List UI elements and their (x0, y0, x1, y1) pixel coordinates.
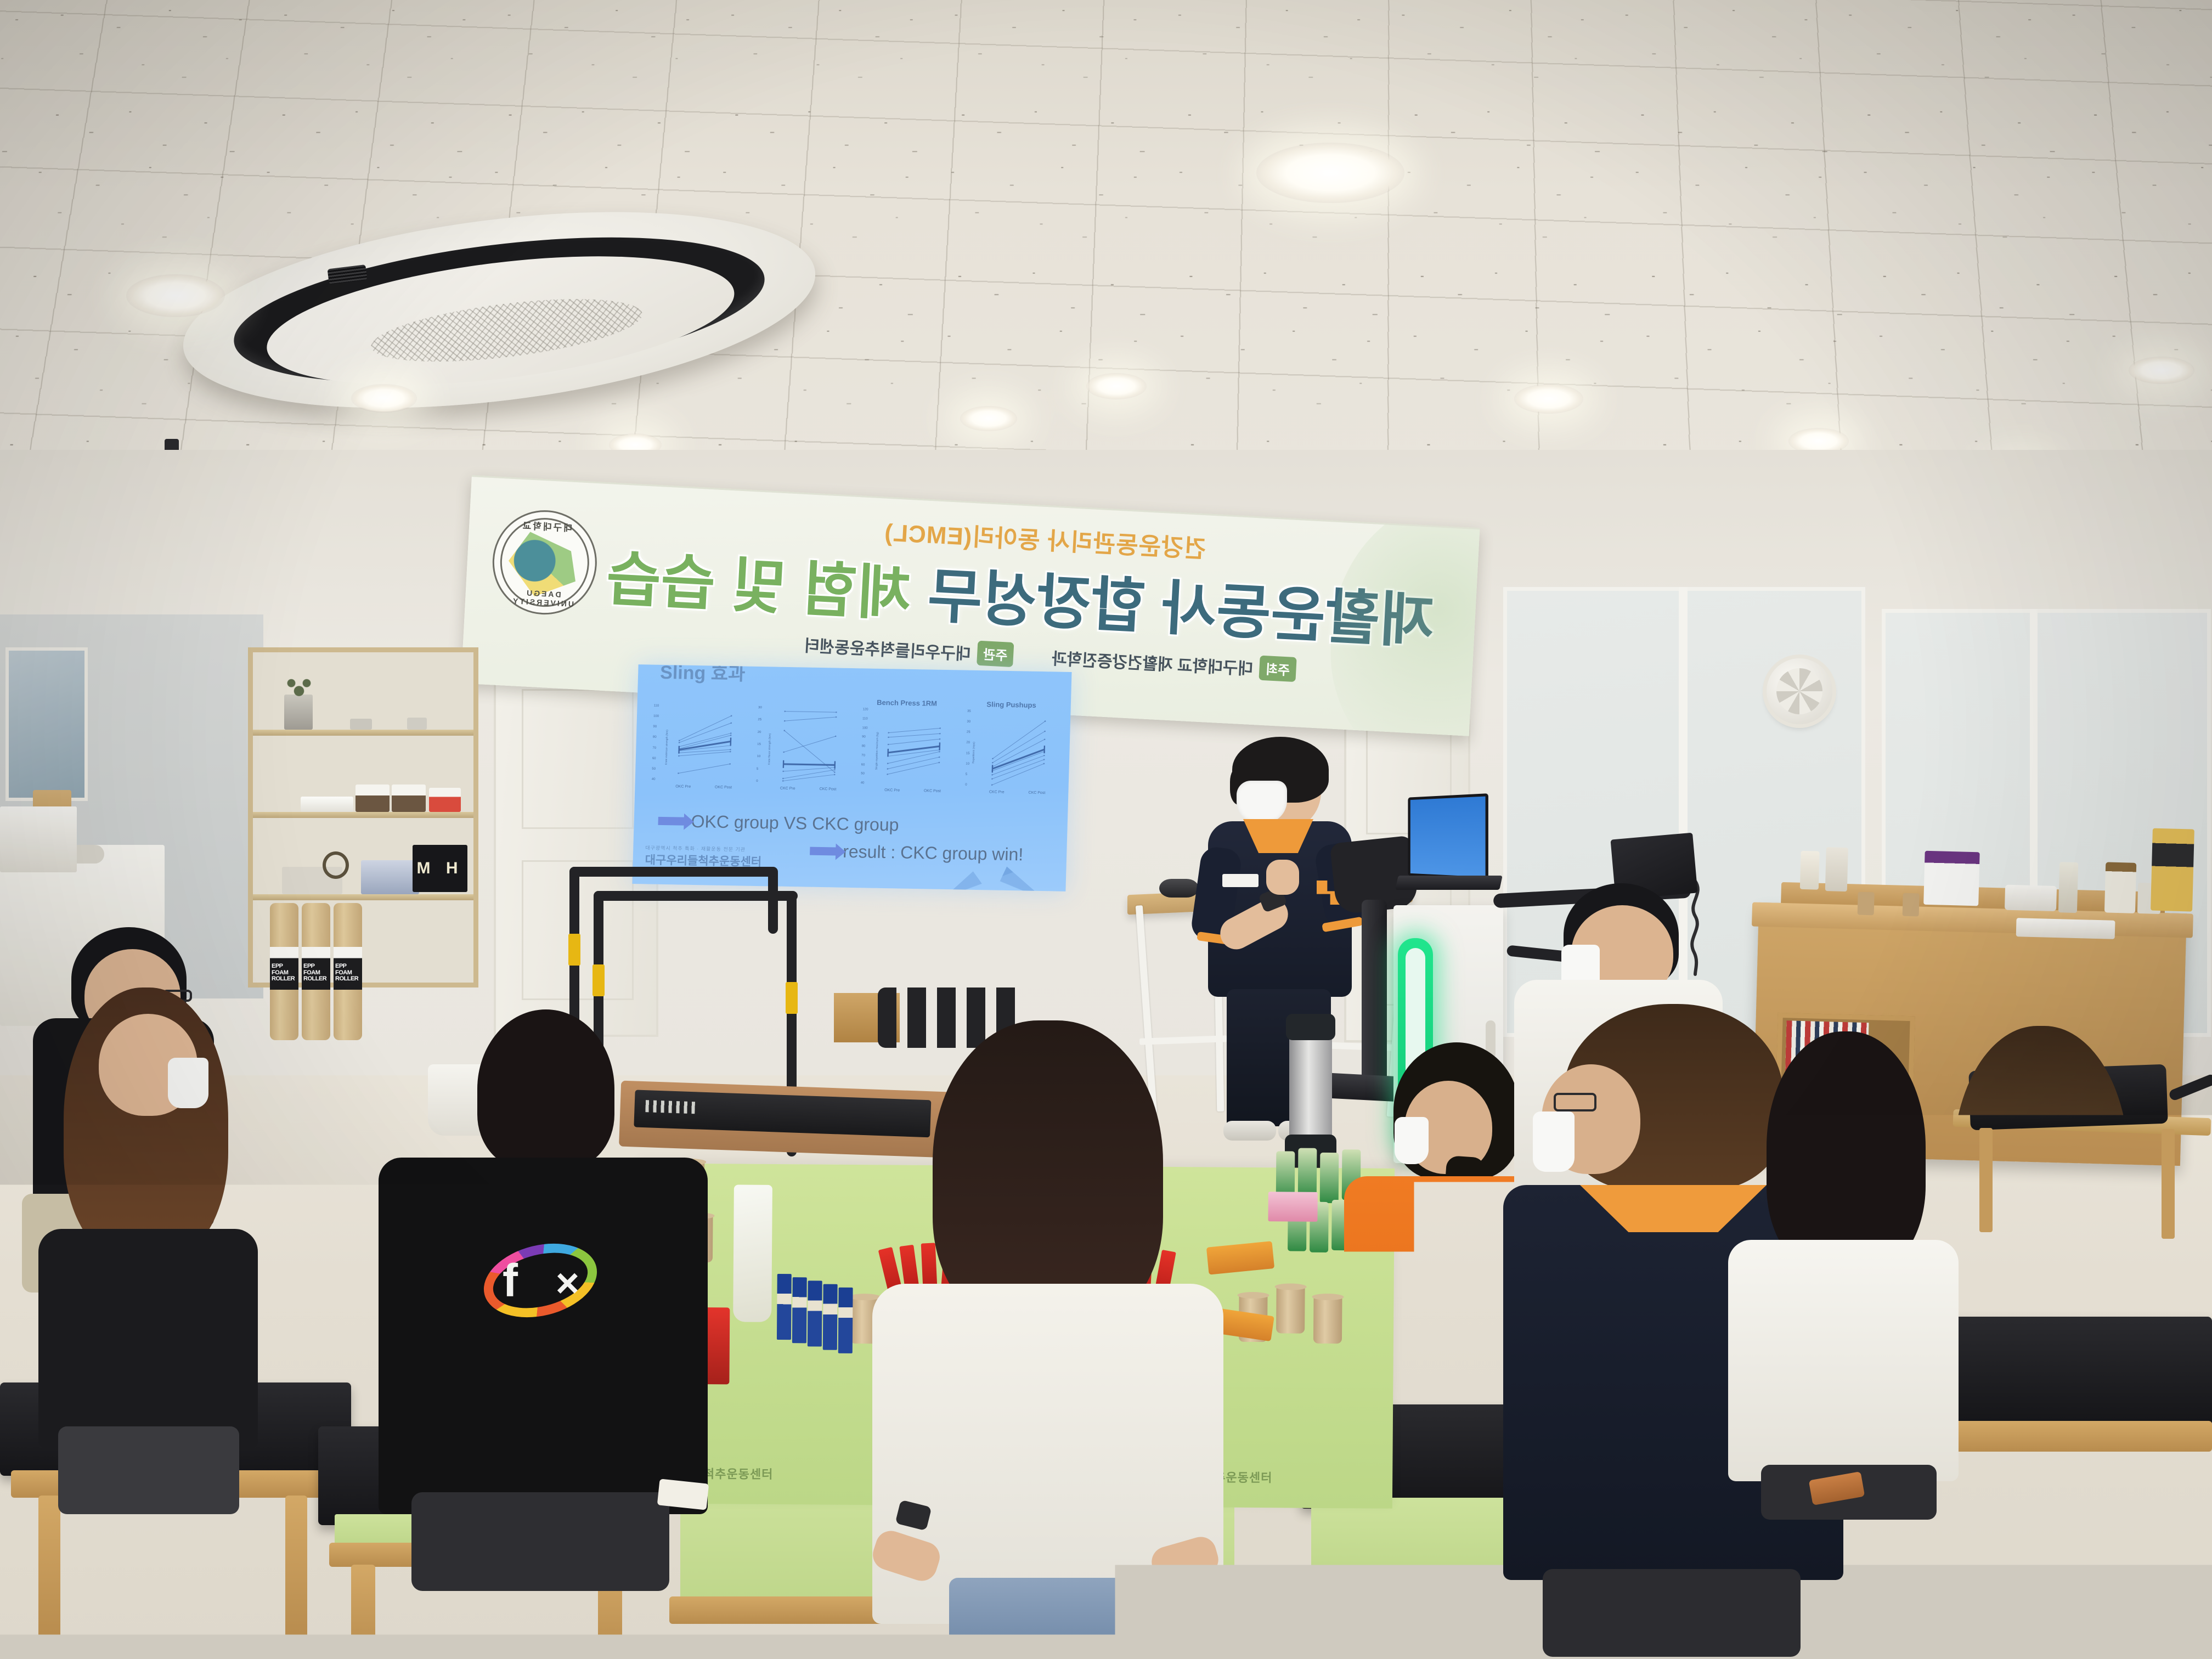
chocolate-bar[interactable] (823, 1284, 838, 1350)
pb-top-rail[interactable] (594, 891, 798, 901)
chart-title: Bench Press 1RM (856, 698, 958, 708)
presenter-shoe (1223, 1121, 1276, 1141)
audience-member-a9 (1920, 1026, 2162, 1520)
torso (1920, 1278, 2162, 1509)
ytick: 0 (965, 783, 969, 787)
bench-leg (38, 1496, 60, 1638)
xtick: OKC Post (715, 786, 732, 790)
reformer-leg (2162, 1129, 2175, 1239)
xtick: OKC Pre (884, 788, 900, 792)
bottled-drink[interactable] (1320, 1153, 1339, 1203)
face-mask (168, 1058, 208, 1108)
chart-xticks: CKC Pre CKC Post (768, 786, 849, 792)
chocolate-bar[interactable] (792, 1277, 807, 1343)
downlight-icon (1086, 373, 1147, 399)
ytick: 90 (862, 736, 867, 739)
slide-bullet-1-text: OKC group VS CKC group (691, 811, 899, 836)
slide-chart-row: Knee extensor strength (Nm) 110 100 90 8… (645, 690, 1063, 811)
chart-plot-area (977, 710, 1059, 788)
chart-xticks: CKC Pre CKC Post (977, 790, 1058, 795)
torso (38, 1229, 258, 1448)
torso (379, 1158, 708, 1514)
laptop-screen-content (1410, 797, 1486, 877)
chart-plot-area (664, 704, 746, 783)
foam-roller-product[interactable]: EPP FOAM ROLLER (302, 903, 330, 1040)
ytick: 70 (861, 754, 867, 757)
credit-tag-organiser: 주관 (977, 641, 1014, 667)
presenter-hand (1266, 860, 1299, 895)
chart-title: Sling Pushups (961, 699, 1062, 709)
pb-height-marker (592, 964, 605, 996)
chart-knee-extensor: Knee extensor strength (Nm) 110 100 90 8… (645, 690, 749, 805)
downlight-icon (351, 384, 417, 413)
presenter-name-badge (1222, 874, 1259, 887)
chart-xticks: OKC Pre OKC Post (663, 785, 744, 790)
display-sign: M H (413, 845, 467, 892)
audience-member-a4 (867, 1020, 1229, 1657)
downlight-icon (126, 274, 225, 317)
chart-xticks: OKC Pre OKC Post (872, 788, 953, 794)
pb-height-marker (568, 934, 580, 966)
banner-title-part1: 재활운동사 합장성무 (926, 562, 1436, 655)
ytick: 80 (653, 736, 658, 739)
chart-yticks: 35 30 25 20 15 10 5 0 (965, 710, 971, 787)
ytick: 20 (966, 741, 970, 744)
chocolate-bar[interactable] (777, 1274, 792, 1340)
banner-credit-organiser: 주관 대구우리들척추운동센터 (804, 631, 1014, 667)
pb-post (768, 868, 778, 934)
ytick: 50 (861, 772, 866, 776)
downlight-icon (960, 406, 1017, 431)
bench-leg (285, 1496, 307, 1638)
thermos-cap[interactable] (1286, 1014, 1335, 1040)
bench-leg (351, 1565, 375, 1659)
sanitiser-bottle[interactable] (1825, 847, 1848, 891)
shelf-board (253, 730, 473, 736)
audience-member-a3: f × (379, 1009, 708, 1558)
diffuser-bottle[interactable] (1800, 851, 1820, 890)
plant-pot (284, 695, 313, 730)
emblem-name-ko: 대구대학교 (496, 516, 597, 535)
boxed-product[interactable] (356, 785, 390, 812)
tablet-display[interactable] (0, 806, 77, 872)
trousers (1543, 1569, 1801, 1657)
resistance-ring-icon (323, 851, 349, 879)
ceiling (0, 0, 2212, 483)
plastic-tub[interactable] (2005, 885, 2057, 911)
ytick: 60 (861, 763, 867, 766)
ytick: 20 (758, 731, 761, 734)
laptop-screen[interactable] (1408, 793, 1488, 880)
pb-top-rail[interactable] (569, 867, 778, 877)
storage-jar[interactable] (2104, 862, 2136, 913)
snack-packet[interactable] (1268, 1192, 1317, 1222)
glass-bottle[interactable] (2058, 862, 2078, 913)
hair (933, 1020, 1163, 1328)
snack-bag[interactable] (733, 1184, 772, 1322)
ytick: 40 (861, 781, 866, 785)
notebook[interactable] (657, 1479, 709, 1510)
chocolate-bar[interactable] (838, 1288, 853, 1353)
foam-roller-label: EPP FOAM ROLLER (334, 947, 362, 990)
ytick: 30 (758, 706, 762, 709)
hair (477, 1009, 614, 1169)
slide-title: Sling 효과 (660, 664, 746, 685)
ytick: 100 (653, 715, 659, 718)
xtick: OKC Post (924, 789, 941, 793)
chart-yticks: 120 110 100 90 80 70 60 50 40 (861, 708, 868, 785)
shelf-board (253, 812, 473, 818)
ytick: 120 (862, 708, 868, 711)
slide-watermark: 대구광역시 척추 특화 · 재활운동 전문 기관 대구우리들척추운동센터 (645, 844, 762, 870)
ytick: 10 (966, 762, 969, 765)
foam-roller-label-text: EPP FOAM ROLLER (335, 963, 362, 983)
ytick: 25 (758, 718, 761, 721)
ytick: 70 (652, 746, 658, 749)
wall-fan-icon (1767, 658, 1832, 724)
emblem-name-en: DAEGU UNIVERSITY (492, 586, 594, 610)
arrow-right-icon (810, 847, 836, 856)
chart-ylabel: Repetitions (reps) (972, 742, 975, 764)
ytick: 90 (653, 725, 658, 729)
chart-sling-pushups: Sling Pushups Repetitions (reps) 35 30 2… (958, 695, 1062, 811)
computer-mouse[interactable] (1159, 879, 1199, 898)
foam-roller-label-text: EPP FOAM ROLLER (303, 963, 330, 983)
boxed-product[interactable] (429, 788, 461, 812)
presentation-laptop[interactable] (1404, 795, 1498, 905)
ytick: 15 (757, 743, 761, 746)
boxed-product[interactable] (392, 785, 426, 812)
slide-bullet-1: OKC group VS CKC group (658, 811, 899, 836)
slide-bullet-2-text: result : CKC group win! (843, 842, 1024, 865)
boxed-product[interactable] (301, 797, 353, 812)
chart-title (752, 696, 853, 698)
ytick: 10 (757, 755, 760, 758)
reformer-handle-bar[interactable] (2168, 1073, 2212, 1102)
ytick: 60 (652, 757, 658, 760)
chocolate-bar[interactable] (808, 1280, 822, 1346)
paper-cup[interactable] (1276, 1286, 1305, 1333)
downlight-icon (2129, 357, 2194, 384)
ytick: 35 (967, 710, 971, 713)
chart-yticks: 30 25 20 15 10 5 0 (756, 706, 762, 783)
ytick: 15 (966, 752, 970, 755)
fx-shirt-logo: f × (483, 1245, 598, 1316)
presenter-face-mask (1237, 781, 1287, 823)
ytick: 40 (652, 778, 657, 781)
plant-leaves-icon (280, 673, 318, 699)
chart-knee-flexor: Knee flexor strength (Nm) 30 25 20 15 10… (749, 692, 853, 808)
hair (1767, 1031, 1926, 1273)
seminar-room-photo: 대구대학교 DAEGU UNIVERSITY 건강운동관리사 동아리(EMCL)… (0, 0, 2212, 1659)
audience-member-a2 (33, 988, 263, 1481)
product-box[interactable] (2151, 828, 2194, 912)
xtick: CKC Pre (989, 790, 1005, 794)
shelf-board (253, 894, 473, 900)
left-window (5, 647, 88, 801)
shirt-back-text: 우리들척추운동센터 (1474, 1229, 1506, 1388)
face-mask (1395, 1117, 1429, 1164)
paper-cup[interactable] (1858, 892, 1875, 916)
boxed-product[interactable] (361, 860, 419, 894)
xtick: CKC Post (1028, 791, 1045, 795)
downlight-icon (1256, 143, 1404, 203)
ytick: 100 (862, 726, 867, 730)
fx-letter-f: f (503, 1254, 518, 1307)
ytick: 5 (966, 772, 969, 776)
ytick: 80 (862, 744, 867, 748)
foam-roller-label-text: EPP FOAM ROLLER (272, 963, 298, 983)
xtick: CKC Pre (780, 787, 795, 791)
ytick: 5 (757, 768, 760, 771)
paper-cup[interactable] (1903, 893, 1920, 917)
pb-height-marker (786, 982, 798, 1014)
paper-cup[interactable] (1313, 1296, 1342, 1344)
jeans (949, 1578, 1152, 1657)
fx-letter-x: × (556, 1260, 579, 1306)
chart-yticks: 110 100 90 80 70 60 50 40 (652, 704, 659, 781)
foam-roller-product[interactable]: EPP FOAM ROLLER (270, 903, 298, 1040)
foam-roller-label: EPP FOAM ROLLER (270, 947, 298, 990)
face-mask (1533, 1111, 1575, 1172)
ceiling-tile-texture (0, 0, 2212, 483)
arrow-right-icon (658, 817, 684, 826)
shelf-display-item (407, 718, 427, 730)
shelf-display-item (350, 719, 372, 730)
chart-bench-press-1rm: Bench Press 1RM Single repetition maximu… (853, 693, 957, 809)
university-emblem: 대구대학교 DAEGU UNIVERSITY (490, 507, 600, 617)
fx-ring-icon (476, 1232, 605, 1328)
chart-title (647, 694, 748, 696)
slide-bullet-2: result : CKC group win! (810, 841, 1024, 865)
xtick: OKC Pre (675, 785, 691, 788)
credit-tag-host: 주최 (1259, 656, 1296, 682)
ytick: 110 (653, 704, 659, 708)
ytick: 0 (756, 780, 760, 783)
eyeglasses (1554, 1093, 1596, 1111)
ceiling-tile-grid (0, 0, 2212, 483)
trousers (58, 1426, 239, 1514)
ytick: 50 (652, 767, 657, 770)
product-shelf-unit: M H EPP FOAM ROLLER EPP FOAM ROLLER EPP … (248, 647, 478, 988)
thermos-flask[interactable] (1289, 1026, 1332, 1152)
chart-plot-area (873, 708, 955, 787)
banner-title-part2: 체험 및 습습 (605, 545, 913, 628)
laptop-keyboard-base[interactable] (1395, 876, 1503, 890)
info-card-stand[interactable] (1923, 851, 1980, 906)
xtick: CKC Post (820, 787, 837, 792)
ytick: 30 (967, 720, 970, 724)
credit-text-host: 대구대학교 재활건강증진학과 (1051, 645, 1254, 679)
ac-grill-icon (368, 287, 645, 374)
bottled-drink[interactable] (1298, 1148, 1317, 1199)
hair (1953, 1026, 2129, 1311)
foam-roller-product[interactable]: EPP FOAM ROLLER (334, 903, 362, 1040)
credit-text-organiser: 대구우리들척추운동센터 (804, 632, 971, 665)
foam-roller-label: EPP FOAM ROLLER (302, 947, 330, 990)
projection-screen: Sling 효과 Knee extensor strength (Nm) 110… (632, 664, 1071, 891)
chart-plot-area (768, 706, 850, 785)
ytick: 25 (967, 731, 970, 734)
ytick: 110 (862, 717, 868, 720)
serving-tray[interactable] (2016, 918, 2115, 939)
trousers (411, 1492, 669, 1591)
downlight-icon (1514, 384, 1583, 414)
bench-leg (1322, 1592, 1346, 1659)
